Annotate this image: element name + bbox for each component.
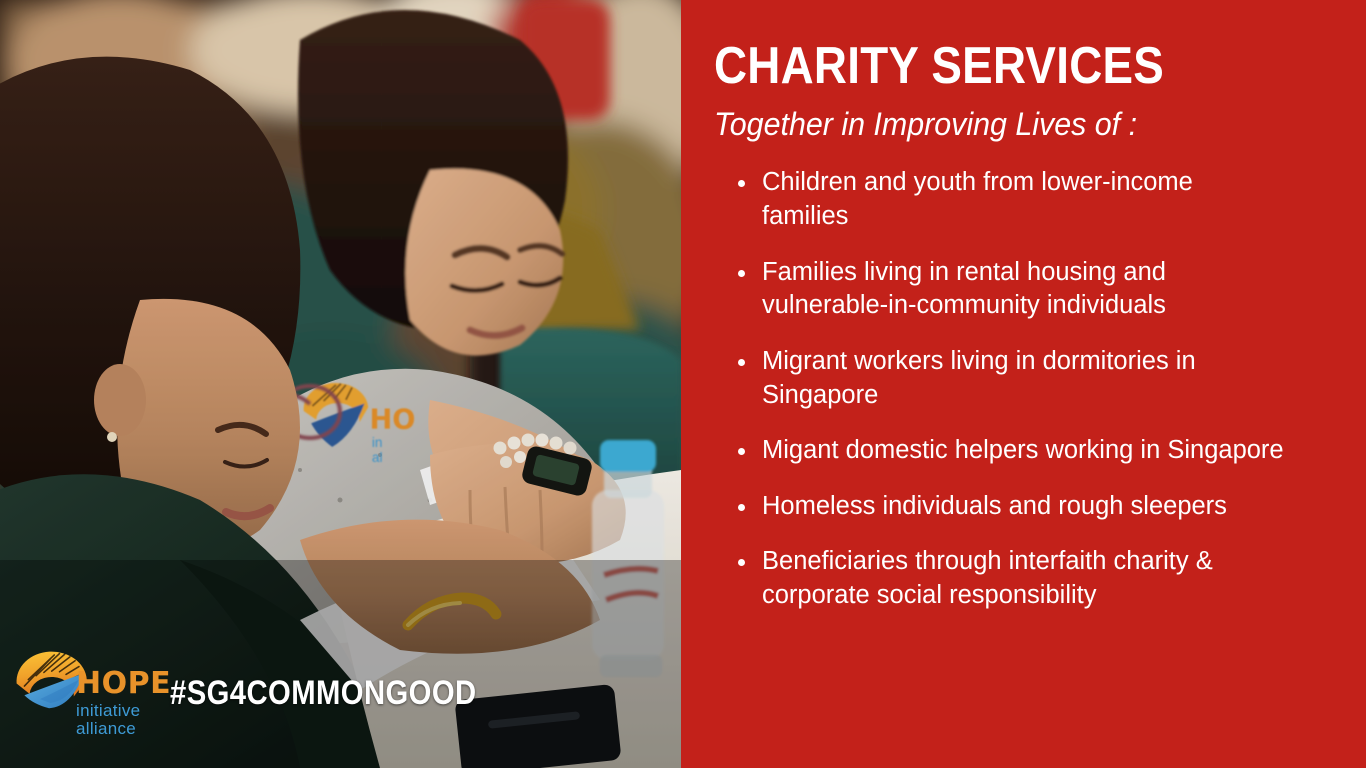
slide-root: HO in al xyxy=(0,0,1366,768)
bullet-dot-icon xyxy=(738,270,745,277)
hope-initiative-alliance-logo: HOPE initiative alliance xyxy=(14,641,150,745)
list-item-label: Families living in rental housing and vu… xyxy=(762,258,1166,320)
logo-tagline-alliance: alliance xyxy=(76,720,171,737)
list-item-label: Children and youth from lower-income fam… xyxy=(762,168,1193,230)
list-item: Migant domestic helpers working in Singa… xyxy=(714,434,1284,468)
page-title: CHARITY SERVICES xyxy=(714,40,1249,93)
bullet-dot-icon xyxy=(738,359,745,366)
list-item-label: Migant domestic helpers working in Singa… xyxy=(762,436,1284,464)
logo-hope-text: HOPE xyxy=(76,669,171,699)
content-panel: CHARITY SERVICES Together in Improving L… xyxy=(681,0,1366,768)
logo-wordmark: HOPE initiative alliance xyxy=(76,669,171,737)
services-bullet-list: Children and youth from lower-income fam… xyxy=(714,166,1322,613)
list-item-label: Beneficiaries through interfaith charity… xyxy=(762,547,1213,609)
bullet-dot-icon xyxy=(738,448,745,455)
page-subtitle: Together in Improving Lives of : xyxy=(714,107,1292,142)
list-item: Families living in rental housing and vu… xyxy=(714,256,1284,323)
branding-overlay: HOPE initiative alliance #SG4COMMONGOOD xyxy=(0,618,681,768)
list-item-label: Migrant workers living in dormitories in… xyxy=(762,347,1196,409)
list-item: Homeless individuals and rough sleepers xyxy=(714,490,1284,524)
list-item: Migrant workers living in dormitories in… xyxy=(714,345,1284,412)
list-item-label: Homeless individuals and rough sleepers xyxy=(762,492,1227,520)
bullet-dot-icon xyxy=(738,504,745,511)
list-item: Beneficiaries through interfaith charity… xyxy=(714,545,1284,612)
campaign-hashtag: #SG4COMMONGOOD xyxy=(170,674,477,713)
list-item: Children and youth from lower-income fam… xyxy=(714,166,1284,233)
logo-tagline-initiative: initiative xyxy=(76,702,171,719)
bullet-dot-icon xyxy=(738,559,745,566)
photo-panel: HO in al xyxy=(0,0,681,768)
bullet-dot-icon xyxy=(738,180,745,187)
